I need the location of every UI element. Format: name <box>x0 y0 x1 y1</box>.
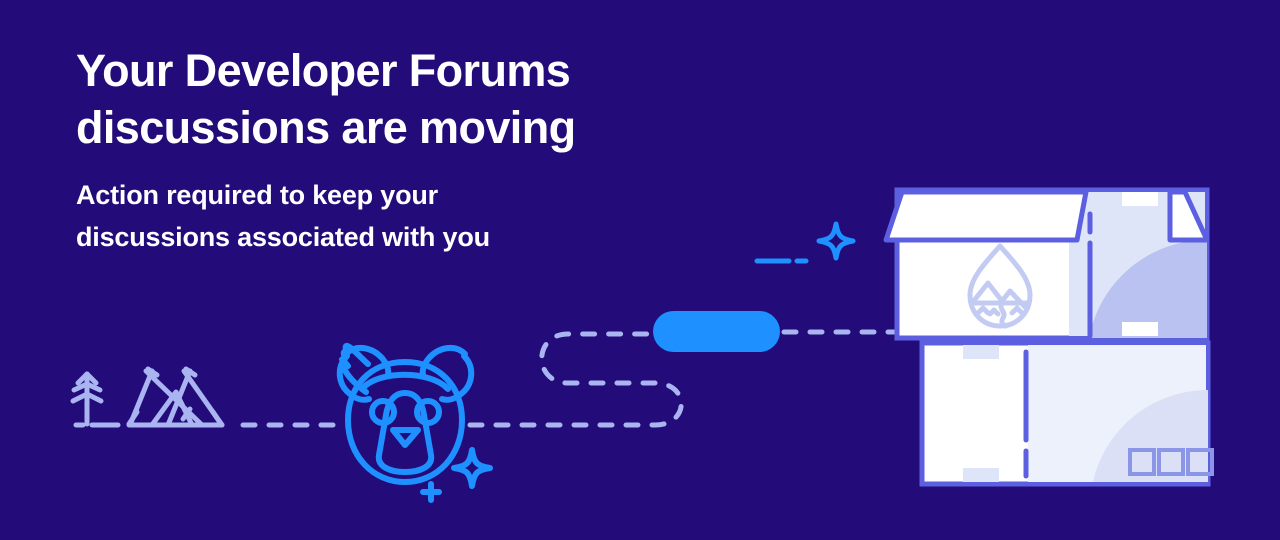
page-title: Your Developer Forums discussions are mo… <box>76 42 716 156</box>
box-upper-tape-top <box>1122 192 1158 206</box>
box-flap-left <box>886 192 1086 240</box>
star-burst-icon <box>819 224 853 258</box>
banner-copy: Your Developer Forums discussions are mo… <box>76 42 716 258</box>
box-lower-tape-top <box>963 345 999 359</box>
plus-icon <box>423 484 439 500</box>
tent-icon <box>129 369 222 425</box>
campsite-group <box>73 369 340 425</box>
box-upper-tape-bottom <box>1122 322 1158 336</box>
banner-subtitle: Action required to keep your discussions… <box>76 174 716 258</box>
bear-mascot-icon <box>340 346 471 482</box>
pine-tree-icon <box>73 374 101 424</box>
moving-box-illustration <box>886 190 1212 508</box>
dashed-trail-curve <box>470 334 681 425</box>
sparkle-star-icon <box>454 450 490 486</box>
blue-pill-shape <box>653 311 780 352</box>
box-lower-tape-bottom <box>963 468 999 482</box>
announcement-banner: Your Developer Forums discussions are mo… <box>0 0 1280 540</box>
